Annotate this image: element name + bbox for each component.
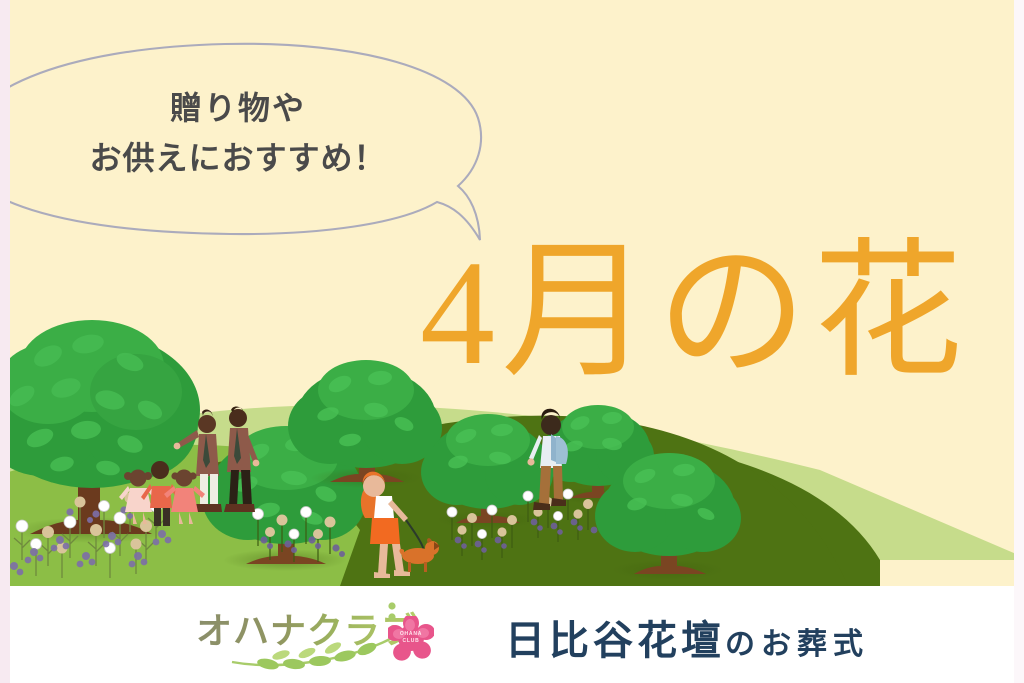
left-edge-strip <box>0 0 10 683</box>
banner-canvas: 贈り物や お供えにおすすめ！ 4月の花 オハナクラブ <box>0 0 1024 683</box>
ohana-club-badge-line-2: CLUB <box>388 638 434 645</box>
footer-bar: オハナクラブ <box>0 586 1024 683</box>
speech-bubble-line-2: お供えにおすすめ！ <box>58 134 418 184</box>
right-edge-strip <box>1014 0 1024 683</box>
hibiya-kadan-logo[interactable]: 日比谷花壇のお葬式 <box>505 608 869 666</box>
speech-bubble-text: 贈り物や お供えにおすすめ！ <box>58 84 418 183</box>
hibiya-kadan-logo-main: 日比谷花壇 <box>505 618 725 663</box>
ohana-club-logo[interactable]: オハナクラブ <box>196 600 436 670</box>
speech-bubble-line-1: 贈り物や <box>58 84 418 134</box>
hibiya-kadan-logo-sub: のお葬式 <box>725 628 869 661</box>
ohana-club-flower-badge: OHANA CLUB <box>388 616 434 662</box>
ohana-club-badge-text: OHANA CLUB <box>388 631 434 644</box>
page-title: 4月の花 <box>420 238 969 388</box>
